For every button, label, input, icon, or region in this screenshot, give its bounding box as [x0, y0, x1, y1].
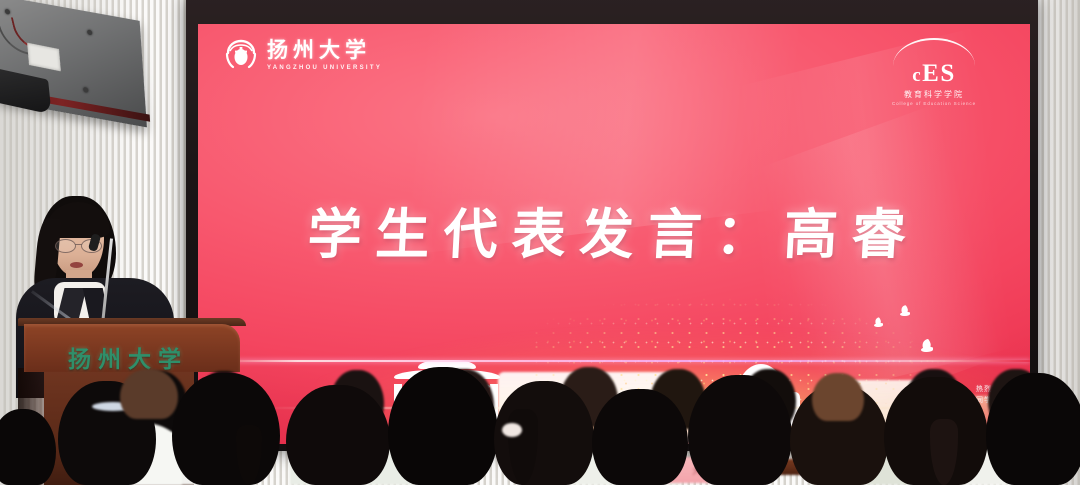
projector-bolt	[5, 9, 10, 15]
audience-head	[0, 409, 56, 485]
hair-tie-icon	[502, 423, 522, 437]
audience-head	[986, 373, 1080, 485]
projector-bolt	[83, 87, 88, 93]
audience-head	[688, 375, 792, 485]
audience-head	[388, 367, 498, 485]
audience-head	[286, 385, 390, 485]
speaker-mouth	[70, 262, 83, 268]
audience-head	[172, 373, 280, 485]
audience-head-light-hair	[120, 369, 178, 419]
audience-head-light-hair	[812, 373, 864, 421]
audience-group: 大 会	[0, 345, 1080, 485]
projector-bolt	[87, 29, 92, 35]
speaker-glasses-left-icon	[55, 239, 76, 253]
audience-head	[592, 389, 688, 485]
speaker-glasses-bridge	[75, 244, 82, 245]
conference-hall-scene: 扬州大学 YANGZHOU UNIVERSITY cES 教育科学学院 Coll…	[0, 0, 1080, 485]
